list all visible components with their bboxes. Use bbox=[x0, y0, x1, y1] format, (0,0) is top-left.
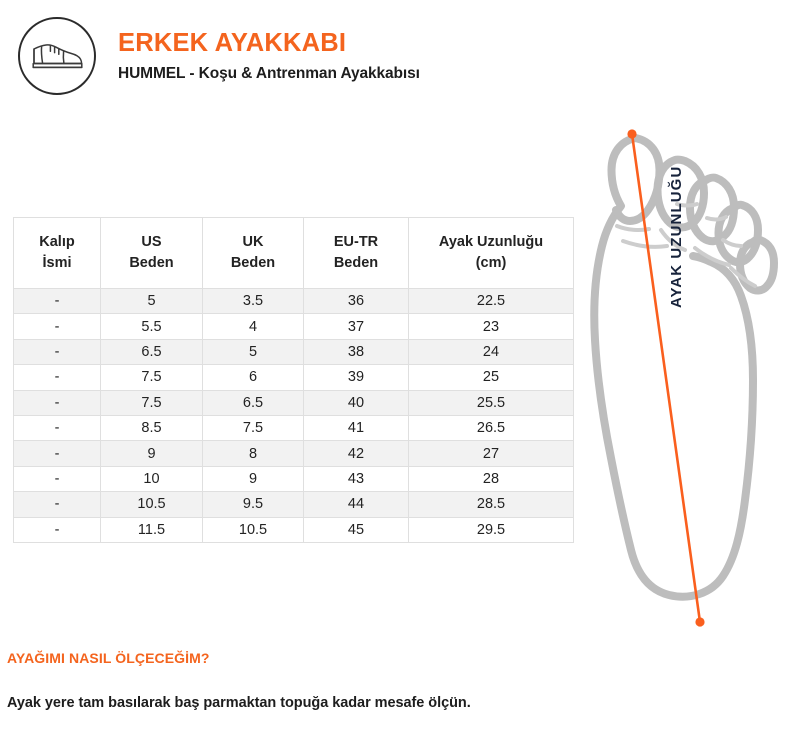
cell-foot-length: 25 bbox=[409, 365, 574, 390]
cell-eu-tr-size: 40 bbox=[304, 390, 409, 415]
size-chart-table: Kalıp İsmi US Beden UK Beden EU-TR Beden… bbox=[13, 217, 574, 543]
table-row: - 5 3.5 36 22.5 bbox=[14, 289, 574, 314]
cell-foot-length: 24 bbox=[409, 339, 574, 364]
column-header-uk-size: UK Beden bbox=[203, 218, 304, 289]
cell-uk-size: 6.5 bbox=[203, 390, 304, 415]
cell-foot-length: 22.5 bbox=[409, 289, 574, 314]
column-header-line1: UK bbox=[243, 234, 264, 250]
cell-us-size: 7.5 bbox=[101, 390, 203, 415]
cell-uk-size: 3.5 bbox=[203, 289, 304, 314]
cell-us-size: 9 bbox=[101, 441, 203, 466]
cell-mold-name: - bbox=[14, 365, 101, 390]
column-header-foot-length: Ayak Uzunluğu (cm) bbox=[409, 218, 574, 289]
cell-eu-tr-size: 39 bbox=[304, 365, 409, 390]
page-subtitle: HUMMEL - Koşu & Antrenman Ayakkabısı bbox=[118, 65, 420, 84]
table-row: - 5.5 4 37 23 bbox=[14, 314, 574, 339]
size-chart-container: Kalıp İsmi US Beden UK Beden EU-TR Beden… bbox=[13, 217, 573, 543]
column-header-line1: Ayak Uzunluğu bbox=[439, 234, 543, 250]
cell-eu-tr-size: 38 bbox=[304, 339, 409, 364]
column-header-line1: US bbox=[141, 234, 161, 250]
cell-foot-length: 27 bbox=[409, 441, 574, 466]
cell-mold-name: - bbox=[14, 415, 101, 440]
page-title: ERKEK AYAKKABI bbox=[118, 29, 420, 58]
cell-us-size: 10.5 bbox=[101, 492, 203, 517]
table-row: - 8.5 7.5 41 26.5 bbox=[14, 415, 574, 440]
table-row: - 10 9 43 28 bbox=[14, 466, 574, 491]
table-body: - 5 3.5 36 22.5 - 5.5 4 37 23 - 6.5 5 38… bbox=[14, 289, 574, 543]
cell-us-size: 5.5 bbox=[101, 314, 203, 339]
cell-foot-length: 28 bbox=[409, 466, 574, 491]
cell-eu-tr-size: 44 bbox=[304, 492, 409, 517]
measure-endpoint-toe bbox=[627, 129, 636, 138]
measurement-instructions: AYAĞIMI NASIL ÖLÇECEĞİM? Ayak yere tam b… bbox=[7, 650, 787, 711]
cell-us-size: 10 bbox=[101, 466, 203, 491]
cell-mold-name: - bbox=[14, 390, 101, 415]
page-header: ERKEK AYAKKABI HUMMEL - Koşu & Antrenman… bbox=[0, 0, 800, 112]
table-row: - 10.5 9.5 44 28.5 bbox=[14, 492, 574, 517]
table-row: - 7.5 6 39 25 bbox=[14, 365, 574, 390]
column-header-line2: Beden bbox=[231, 255, 275, 271]
cell-us-size: 5 bbox=[101, 289, 203, 314]
cell-uk-size: 4 bbox=[203, 314, 304, 339]
cell-mold-name: - bbox=[14, 466, 101, 491]
cell-eu-tr-size: 43 bbox=[304, 466, 409, 491]
column-header-line2: (cm) bbox=[476, 255, 507, 271]
cell-us-size: 7.5 bbox=[101, 365, 203, 390]
table-row: - 6.5 5 38 24 bbox=[14, 339, 574, 364]
cell-eu-tr-size: 45 bbox=[304, 517, 409, 542]
cell-foot-length: 26.5 bbox=[409, 415, 574, 440]
cell-mold-name: - bbox=[14, 314, 101, 339]
cell-eu-tr-size: 37 bbox=[304, 314, 409, 339]
cell-uk-size: 5 bbox=[203, 339, 304, 364]
column-header-eu-tr-size: EU-TR Beden bbox=[304, 218, 409, 289]
cell-foot-length: 29.5 bbox=[409, 517, 574, 542]
cell-uk-size: 10.5 bbox=[203, 517, 304, 542]
table-row: - 9 8 42 27 bbox=[14, 441, 574, 466]
cell-uk-size: 7.5 bbox=[203, 415, 304, 440]
cell-foot-length: 23 bbox=[409, 314, 574, 339]
cell-mold-name: - bbox=[14, 289, 101, 314]
instructions-heading: AYAĞIMI NASIL ÖLÇECEĞİM? bbox=[7, 650, 787, 666]
cell-eu-tr-size: 41 bbox=[304, 415, 409, 440]
cell-mold-name: - bbox=[14, 517, 101, 542]
cell-us-size: 8.5 bbox=[101, 415, 203, 440]
table-header-row: Kalıp İsmi US Beden UK Beden EU-TR Beden… bbox=[14, 218, 574, 289]
instructions-note: Ayak yere tam basılarak baş parmaktan to… bbox=[7, 695, 787, 711]
cell-foot-length: 25.5 bbox=[409, 390, 574, 415]
cell-us-size: 11.5 bbox=[101, 517, 203, 542]
table-row: - 7.5 6.5 40 25.5 bbox=[14, 390, 574, 415]
column-header-line2: Beden bbox=[334, 255, 378, 271]
shoe-icon bbox=[18, 17, 96, 95]
cell-uk-size: 9 bbox=[203, 466, 304, 491]
foot-length-label: AYAK UZUNLUĞU bbox=[668, 148, 685, 308]
column-header-line2: Beden bbox=[129, 255, 173, 271]
cell-uk-size: 9.5 bbox=[203, 492, 304, 517]
cell-eu-tr-size: 42 bbox=[304, 441, 409, 466]
cell-mold-name: - bbox=[14, 441, 101, 466]
column-header-line2: İsmi bbox=[42, 255, 71, 271]
cell-uk-size: 6 bbox=[203, 365, 304, 390]
table-row: - 11.5 10.5 45 29.5 bbox=[14, 517, 574, 542]
cell-eu-tr-size: 36 bbox=[304, 289, 409, 314]
table-header: Kalıp İsmi US Beden UK Beden EU-TR Beden… bbox=[14, 218, 574, 289]
measure-endpoint-heel bbox=[695, 617, 704, 626]
column-header-mold-name: Kalıp İsmi bbox=[14, 218, 101, 289]
cell-mold-name: - bbox=[14, 492, 101, 517]
header-text-block: ERKEK AYAKKABI HUMMEL - Koşu & Antrenman… bbox=[118, 29, 420, 84]
cell-us-size: 6.5 bbox=[101, 339, 203, 364]
column-header-line1: EU-TR bbox=[334, 234, 378, 250]
column-header-line1: Kalıp bbox=[39, 234, 74, 250]
cell-mold-name: - bbox=[14, 339, 101, 364]
column-header-us-size: US Beden bbox=[101, 218, 203, 289]
cell-foot-length: 28.5 bbox=[409, 492, 574, 517]
cell-uk-size: 8 bbox=[203, 441, 304, 466]
